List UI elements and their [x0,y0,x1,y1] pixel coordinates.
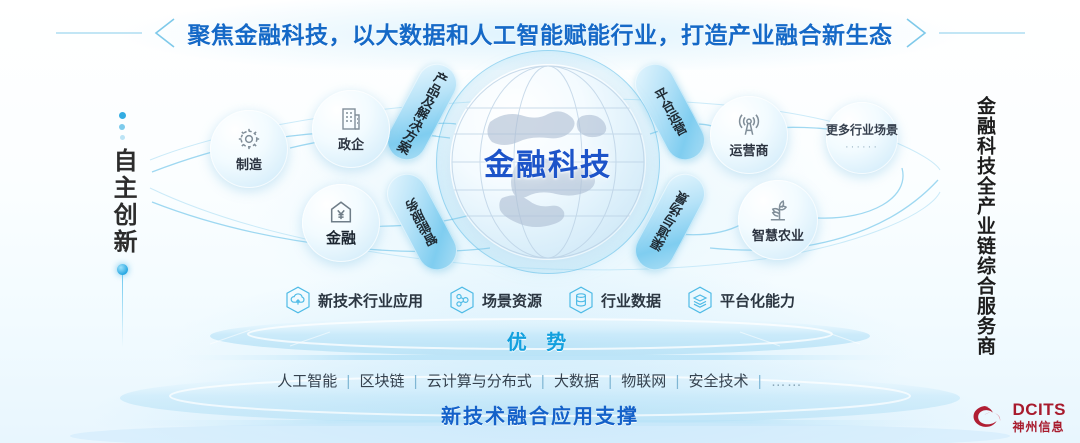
advantage-section-title: 优 势 [0,326,1080,355]
node-label: 制造 [236,154,262,173]
advantage-new-tech[interactable]: 新技术行业应用 [285,286,423,314]
left-caption-text: 自主创新 [108,148,136,256]
bank-yen-icon [328,199,354,225]
advantage-industry-data[interactable]: 行业数据 [568,286,661,314]
company-logo: DCITS 神州信息 [972,401,1067,433]
database-icon [568,286,594,314]
advantage-label: 场景资源 [482,290,542,311]
node-finance[interactable]: 金融 [302,184,380,262]
page-title: 聚焦金融科技，以大数据和人工智能赋能行业，打造产业融合新生态 [188,16,893,50]
advantage-platform-capability[interactable]: 平台化能力 [687,286,795,314]
right-caption: 金融科技全产业链综合服务商 [974,96,994,356]
advantage-scenario[interactable]: 场景资源 [449,286,542,314]
layers-icon [687,286,713,314]
molecule-icon [449,286,475,314]
separator: | [541,373,545,390]
globe-label: 金融科技 [450,140,646,184]
ellipsis-icon: ······ [845,141,879,153]
header-right-ornament [905,16,1025,50]
globe-container: 金融科技 [450,64,646,260]
tech-item: 人工智能 [277,373,337,390]
advantage-label: 新技术行业应用 [318,290,423,311]
node-manufacturing[interactable]: 制造 [210,110,288,188]
ecosystem-diagram: 产品及解决方案 智能服务 平台运营 渠道与场景 [150,52,940,302]
tech-item: 云计算与分布式 [427,373,532,390]
node-label: 运营商 [729,140,768,159]
government-building-icon [339,106,363,132]
node-label: 更多行业场景 [826,123,898,138]
node-government-enterprise[interactable]: 政企 [312,90,390,168]
wheat-icon [765,197,791,223]
foundation-title: 新技术融合应用支撑 [0,400,1080,429]
separator: | [675,373,679,390]
signal-tower-icon [736,112,762,138]
gear-icon [236,126,262,152]
advantage-row: 新技术行业应用 场景资源 行业数据 [0,286,1080,314]
infographic-canvas: 聚焦金融科技，以大数据和人工智能赋能行业，打造产业融合新生态 自主创新 金融科技… [0,0,1080,443]
node-label: 政企 [338,134,364,153]
dcits-swirl-icon [972,403,1006,431]
node-label: 金融 [326,227,356,248]
advantage-label: 行业数据 [601,290,661,311]
bulb-dot-icon [117,264,128,275]
tech-item: 大数据 [554,373,599,390]
logo-text: DCITS 神州信息 [1013,401,1067,433]
node-more-scenarios[interactable]: 更多行业场景 ······ [826,102,898,174]
separator: | [608,373,612,390]
header-left-ornament [56,16,176,50]
logo-subname: 神州信息 [1013,421,1067,433]
node-telecom-operator[interactable]: 运营商 [710,96,788,174]
tech-item: 区块链 [359,373,404,390]
separator: | [758,373,762,390]
tech-item: 安全技术 [689,373,749,390]
logo-name: DCITS [1013,401,1067,418]
tech-item: 物联网 [621,373,666,390]
node-label: 智慧农业 [752,225,804,244]
tech-ellipsis: …… [771,373,803,390]
dot-indicator-icon [100,112,144,140]
separator: | [346,373,350,390]
node-smart-agriculture[interactable]: 智慧农业 [738,180,818,260]
separator: | [414,373,418,390]
header-banner: 聚焦金融科技，以大数据和人工智能赋能行业，打造产业融合新生态 [0,10,1080,56]
cloud-upload-icon [285,286,311,314]
technology-list: 人工智能 | 区块链 | 云计算与分布式 | 大数据 | 物联网 | 安全技术 … [0,370,1080,391]
advantage-label: 平台化能力 [720,290,795,311]
right-caption-text: 金融科技全产业链综合服务商 [974,96,994,356]
